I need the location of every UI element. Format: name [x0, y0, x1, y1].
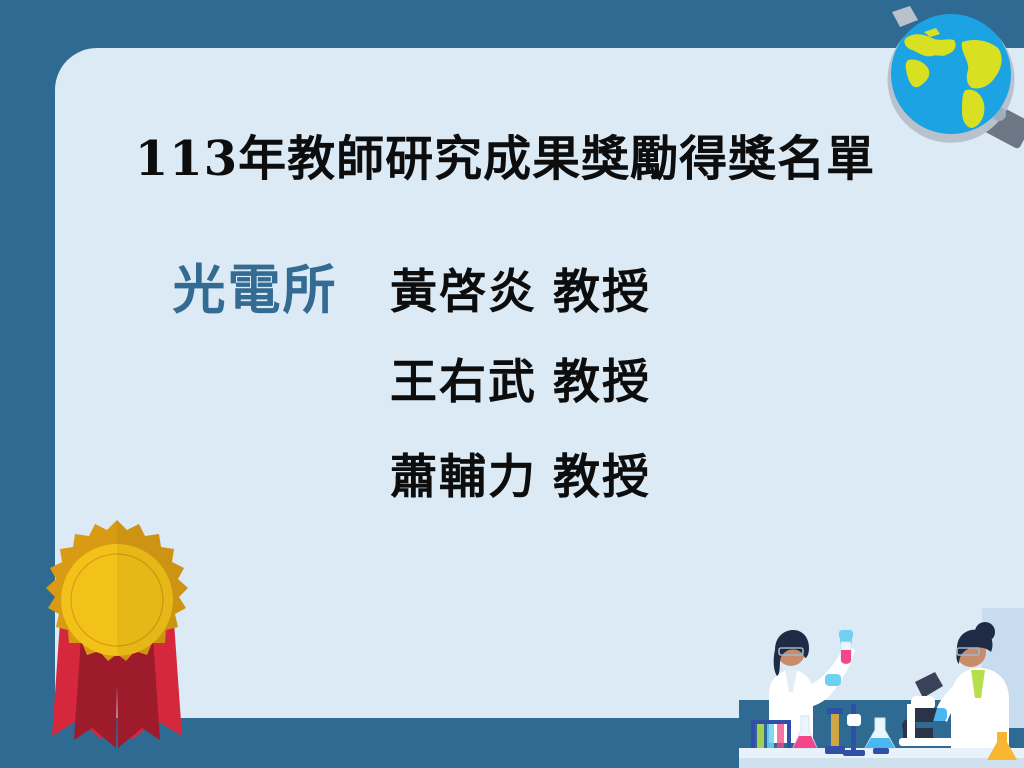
awardee-rank: 教授	[553, 355, 651, 410]
award-row: 蕭輔力教授	[120, 438, 880, 533]
awardee-entry: 黃啓炎教授	[390, 253, 651, 322]
awardee-name: 王右武	[390, 355, 537, 410]
awardee-name: 黃啓炎	[390, 265, 537, 320]
awardee-entry: 王右武教授	[390, 343, 651, 412]
award-row: 光電所 黃啓炎教授	[120, 248, 880, 343]
awardee-rank: 教授	[553, 450, 651, 505]
awardee-rank: 教授	[553, 265, 651, 320]
award-list: 光電所 黃啓炎教授 王右武教授 蕭輔力教授	[120, 248, 880, 533]
scientists-laboratory-illustration	[739, 608, 1024, 768]
department-label: 光電所	[120, 248, 390, 324]
awardee-name: 蕭輔力	[390, 450, 537, 505]
award-row: 王右武教授	[120, 343, 880, 438]
slide-canvas: 113年教師研究成果獎勵得獎名單 光電所 黃啓炎教授 王右武教授 蕭輔力教授	[0, 0, 1024, 768]
globe-icon	[862, 0, 1024, 154]
awardee-entry: 蕭輔力教授	[390, 438, 651, 507]
page-title: 113年教師研究成果獎勵得獎名單	[55, 132, 955, 187]
award-ribbon-icon	[22, 512, 212, 762]
